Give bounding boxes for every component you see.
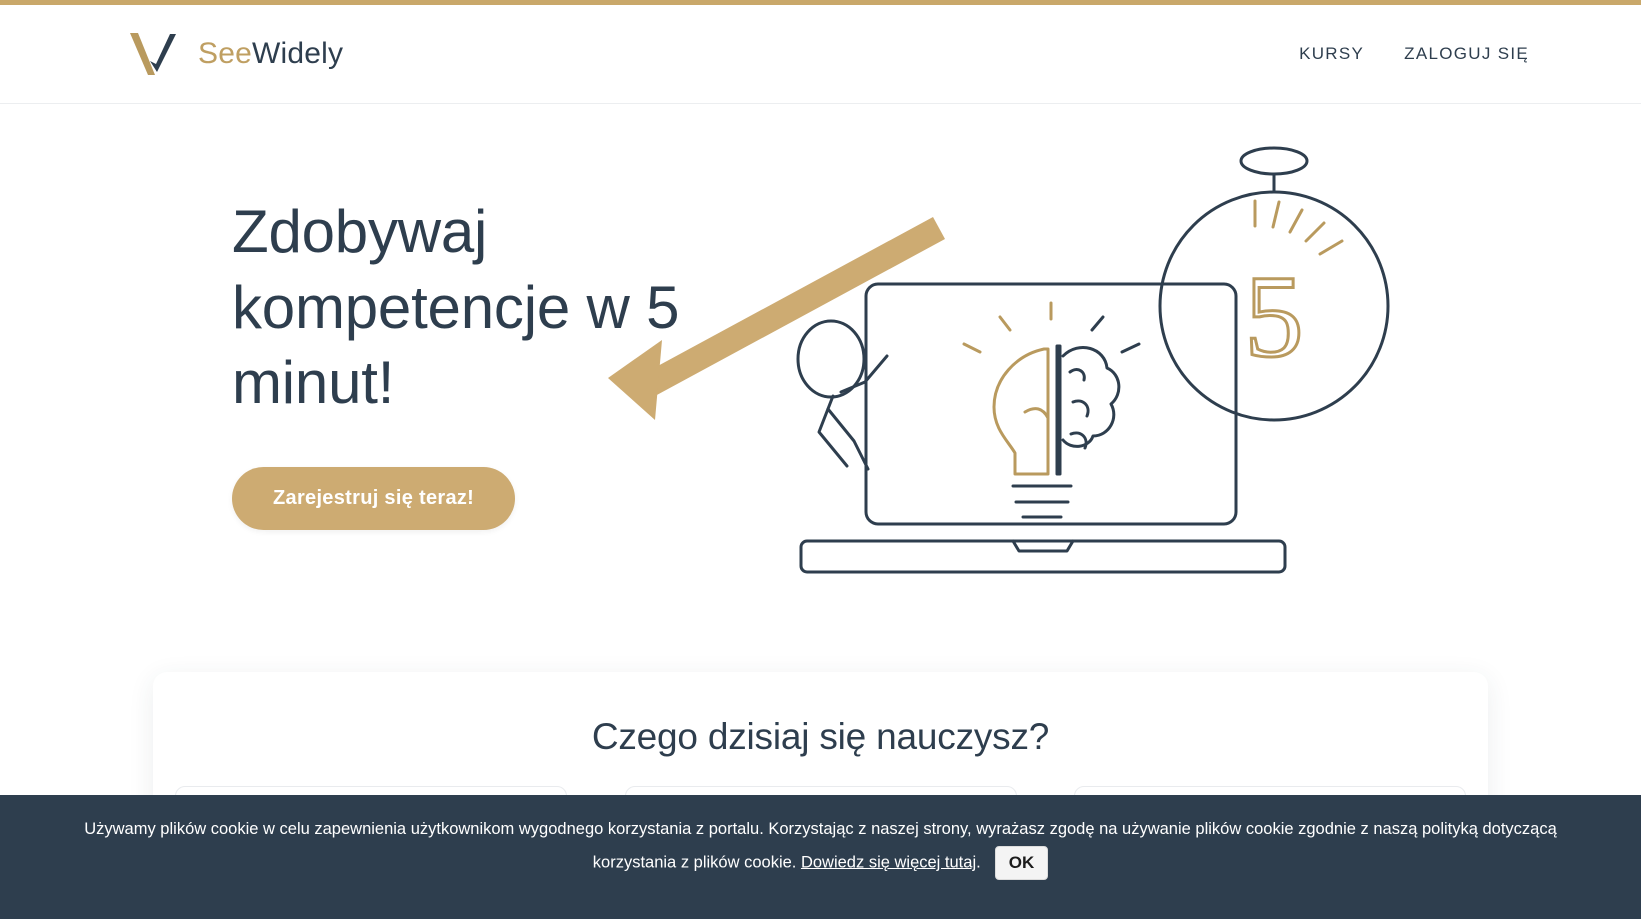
page-root: SeeWidely KURSY ZALOGUJ SIĘ Zdobywaj kom…	[0, 0, 1641, 919]
nav-item-kursy[interactable]: KURSY	[1299, 44, 1364, 64]
cookie-text-tail: .	[976, 853, 981, 871]
brand-text-see: See	[198, 37, 252, 70]
site-header: SeeWidely KURSY ZALOGUJ SIĘ	[0, 5, 1641, 104]
register-now-button[interactable]: Zarejestruj się teraz!	[232, 467, 515, 530]
hero-title: Zdobywaj kompetencje w 5 minut!	[232, 194, 792, 421]
seewidely-checkmark-logo-icon	[126, 31, 184, 77]
laptop-screen	[866, 284, 1236, 524]
learn-section-title: Czego dzisiaj się nauczysz?	[153, 672, 1488, 758]
hero-section: Zdobywaj kompetencje w 5 minut! Zarejest…	[0, 104, 1641, 644]
brand-text: SeeWidely	[198, 37, 343, 71]
hero-cta-wrapper: Zarejestruj się teraz!	[232, 467, 792, 530]
lightbulb-brain-icon	[964, 303, 1139, 517]
hero-copy: Zdobywaj kompetencje w 5 minut! Zarejest…	[232, 194, 792, 530]
cookie-text: Używamy plików cookie w celu zapewnienia…	[41, 813, 1601, 880]
main-navigation: KURSY ZALOGUJ SIĘ	[1299, 44, 1529, 64]
brand-logo-link[interactable]: SeeWidely	[126, 31, 343, 77]
brand-text-widely: Widely	[252, 37, 343, 70]
cookie-consent-banner: Używamy plików cookie w celu zapewnienia…	[0, 795, 1641, 919]
cookie-ok-button[interactable]: OK	[995, 846, 1049, 880]
nav-item-zaloguj-sie[interactable]: ZALOGUJ SIĘ	[1404, 44, 1529, 64]
cookie-more-info-link[interactable]: Dowiedz się więcej tutaj	[801, 853, 976, 871]
stopwatch-value-label: 5	[1245, 251, 1304, 382]
stopwatch-icon	[1160, 148, 1388, 420]
